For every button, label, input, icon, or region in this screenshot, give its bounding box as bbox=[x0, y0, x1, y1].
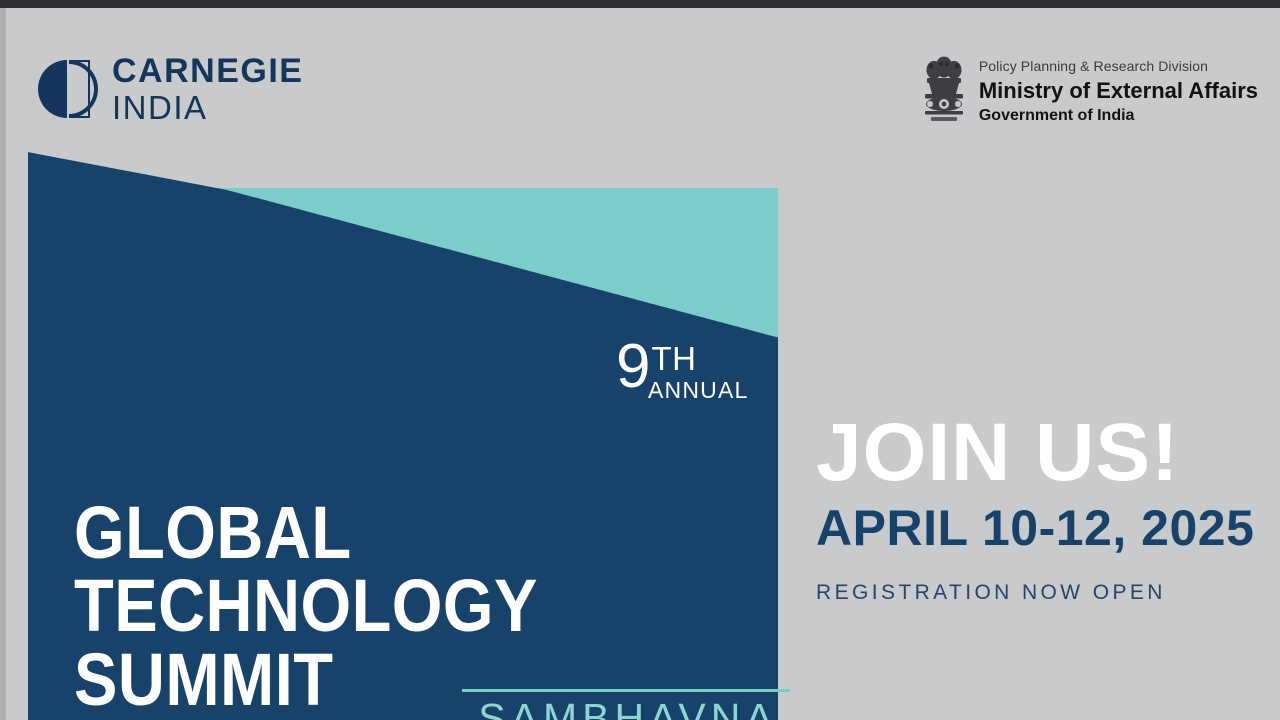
cta-dates: APRIL 10-12, 2025 bbox=[816, 502, 1266, 555]
theme-word: SAMBHAVNA bbox=[462, 692, 790, 720]
theme-lockup: SAMBHAVNA bbox=[462, 689, 790, 720]
cta-headline: JOIN US! bbox=[816, 414, 1266, 492]
carnegie-split-circle-icon bbox=[38, 58, 98, 120]
title-line-2: TECHNOLOGY bbox=[74, 569, 538, 642]
ministry-government: Government of India bbox=[979, 106, 1258, 127]
carnegie-name: CARNEGIE bbox=[112, 54, 303, 88]
poster-frame: CARNEGIE INDIA bbox=[0, 0, 1280, 720]
carnegie-country: INDIA bbox=[112, 91, 303, 124]
page-title: GLOBAL TECHNOLOGY SUMMIT bbox=[74, 496, 538, 716]
poster-artwork: 9 TH ANNUAL GLOBAL TECHNOLOGY SUMMIT SAM… bbox=[28, 144, 778, 720]
annual-edition-badge: 9 TH ANNUAL bbox=[616, 340, 749, 402]
carnegie-india-logo: CARNEGIE INDIA bbox=[38, 54, 303, 124]
poster-stage: CARNEGIE INDIA bbox=[6, 8, 1280, 720]
ashoka-lion-capital-icon bbox=[921, 56, 967, 126]
ministry-name: Ministry of External Affairs bbox=[979, 77, 1258, 105]
title-line-1: GLOBAL bbox=[74, 496, 538, 569]
cta-registration-status: REGISTRATION NOW OPEN bbox=[816, 581, 1266, 605]
ministry-lockup: Policy Planning & Research Division Mini… bbox=[921, 56, 1258, 127]
annual-ordinal: TH bbox=[651, 342, 696, 375]
ministry-division: Policy Planning & Research Division bbox=[979, 58, 1258, 76]
carnegie-wordmark: CARNEGIE INDIA bbox=[112, 54, 303, 124]
cta-column: JOIN US! APRIL 10-12, 2025 REGISTRATION … bbox=[816, 414, 1266, 605]
annual-label: ANNUAL bbox=[648, 379, 749, 402]
window-top-chrome bbox=[0, 0, 1280, 8]
annual-number: 9 bbox=[616, 340, 650, 395]
ministry-text: Policy Planning & Research Division Mini… bbox=[979, 56, 1258, 127]
